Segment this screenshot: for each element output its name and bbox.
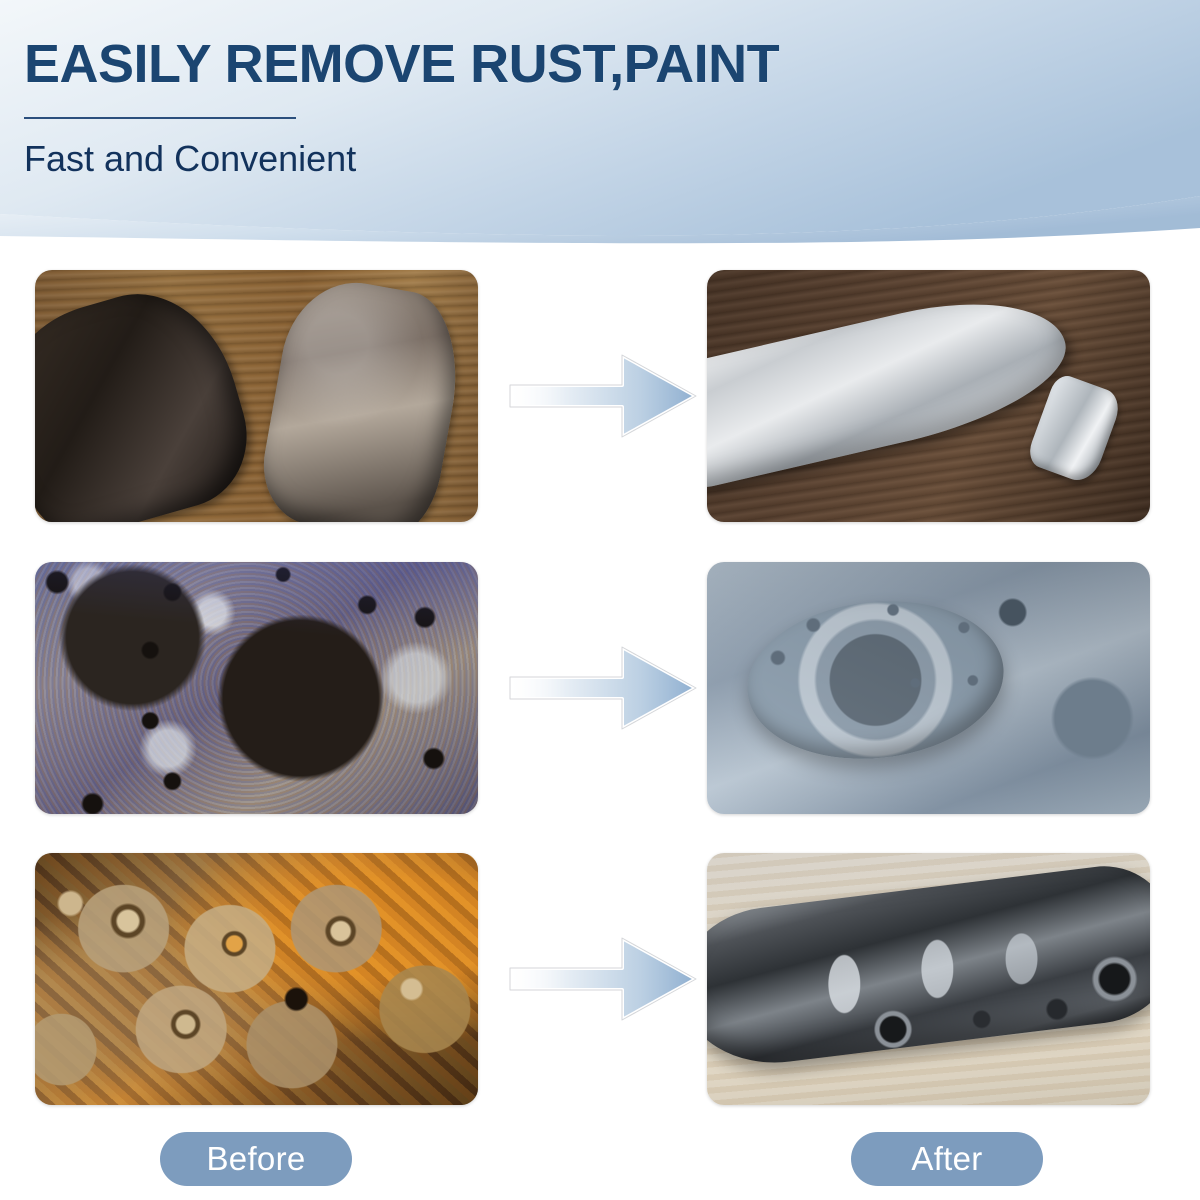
right-arrow-icon <box>506 343 702 449</box>
clean-flange-image <box>707 562 1150 814</box>
transform-arrow-row-2 <box>506 635 702 741</box>
rusty-chain-image <box>35 853 478 1105</box>
clean-chain-image <box>707 853 1150 1105</box>
rusty-wrench-image <box>35 270 478 522</box>
before-photo-flanges <box>35 562 478 814</box>
transform-arrow-row-1 <box>506 343 702 449</box>
after-label-badge: After <box>851 1132 1043 1186</box>
before-photo-wrenches <box>35 270 478 522</box>
transform-arrow-row-3 <box>506 926 702 1032</box>
before-photo-chain <box>35 853 478 1105</box>
before-label-badge: Before <box>160 1132 352 1186</box>
after-photo-chain <box>707 853 1150 1105</box>
rusty-flange-image <box>35 562 478 814</box>
clean-wrench-image <box>707 270 1150 522</box>
right-arrow-icon <box>506 635 702 741</box>
after-photo-flanges <box>707 562 1150 814</box>
after-photo-wrench <box>707 270 1150 522</box>
before-after-grid <box>0 0 1200 1200</box>
right-arrow-icon <box>506 926 702 1032</box>
